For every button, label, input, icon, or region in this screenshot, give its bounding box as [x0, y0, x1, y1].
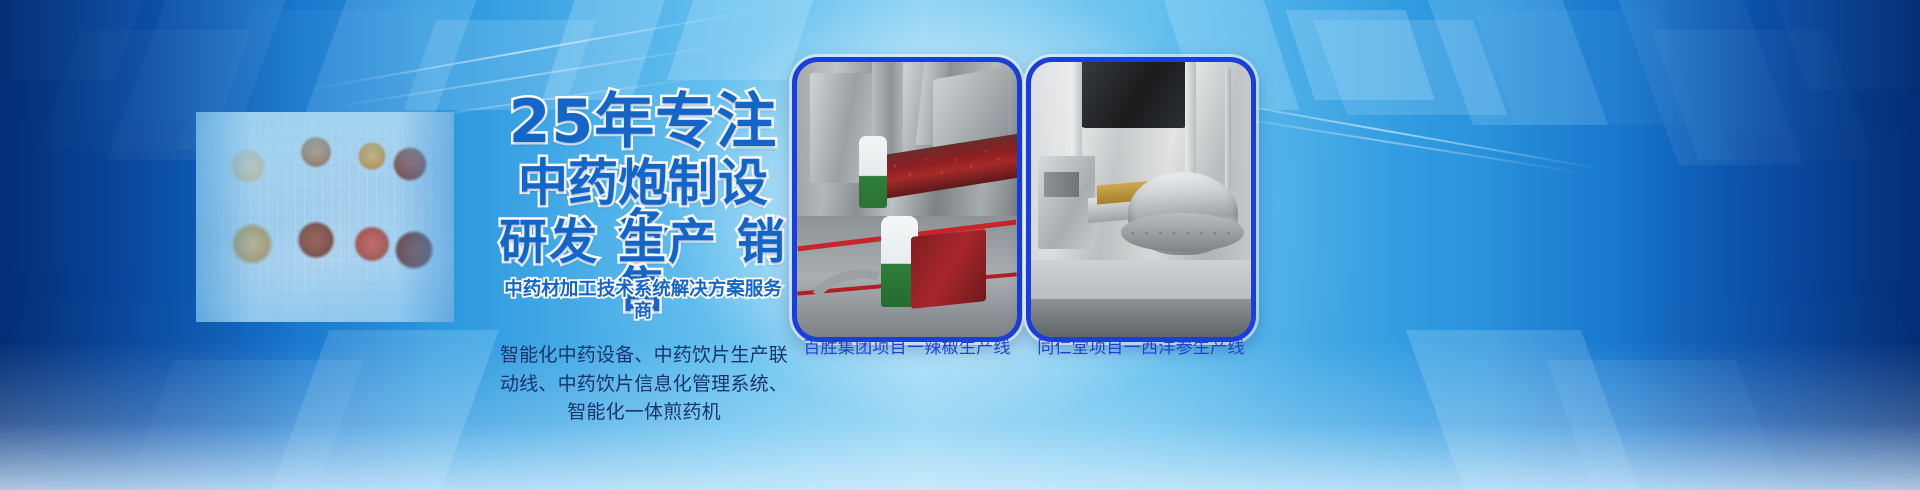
- shard: [1651, 30, 1873, 160]
- shard: [303, 0, 488, 120]
- headline-tagline: 中药材加工技术系统解决方案服务商: [498, 279, 788, 323]
- headline-line-1: 25年专注: [498, 92, 788, 154]
- photo-pole: [1225, 68, 1232, 189]
- right-vignette: [1490, 0, 1920, 490]
- shard: [1611, 0, 1803, 165]
- shard: [1474, 10, 1701, 125]
- photo-cabinet: [1038, 156, 1095, 250]
- light-beam: [300, 10, 753, 92]
- chili-production-line-photo: [797, 62, 1017, 337]
- shard: [1659, 300, 1920, 445]
- shard: [1285, 10, 1434, 100]
- project-photo-card-ginseng[interactable]: [1026, 57, 1256, 342]
- shard: [1772, 0, 1920, 90]
- chinese-herbs-collage-image: [196, 112, 454, 322]
- bottom-fade: [0, 340, 1920, 490]
- shard: [667, 0, 813, 80]
- photo-worker: [859, 136, 888, 208]
- photo-control-panel: [1044, 172, 1079, 197]
- project-photo-card-chili[interactable]: [792, 57, 1022, 342]
- headline-line-3: 研发 生产 销售: [498, 218, 788, 272]
- shard: [0, 120, 187, 270]
- shard: [271, 330, 499, 490]
- shard: [1723, 130, 1920, 280]
- photo-cart: [911, 229, 986, 308]
- shard: [1406, 330, 1639, 490]
- shard: [542, 0, 668, 100]
- headline-line-2: 中药炮制设备: [498, 158, 788, 214]
- ginseng-production-line-photo: [1031, 62, 1251, 337]
- photo-caption-ginseng: 同仁堂项目一西洋参生产线: [1016, 333, 1266, 358]
- shard: [1546, 360, 1783, 490]
- headline-body-text: 智能化中药设备、中药饮片生产联动线、中药饮片信息化管理系统、智能化一体煎药机: [498, 341, 790, 427]
- photo-caption-chili: 百胜集团项目一辣椒生产线: [782, 333, 1032, 358]
- photo-shadow: [1031, 299, 1251, 338]
- shard: [1313, 20, 1508, 115]
- photo-tank-bolts: [1126, 222, 1240, 244]
- shard: [210, 10, 440, 120]
- shard: [126, 360, 363, 490]
- headline-text-block: 25年专注 中药炮制设备 研发 生产 销售 中药材加工技术系统解决方案服务商 智…: [498, 92, 788, 427]
- photo-hood: [1079, 57, 1189, 128]
- shard: [1417, 0, 1608, 125]
- hero-banner: 25年专注 中药炮制设备 研发 生产 销售 中药材加工技术系统解决方案服务商 智…: [0, 0, 1920, 490]
- shard: [0, 0, 146, 80]
